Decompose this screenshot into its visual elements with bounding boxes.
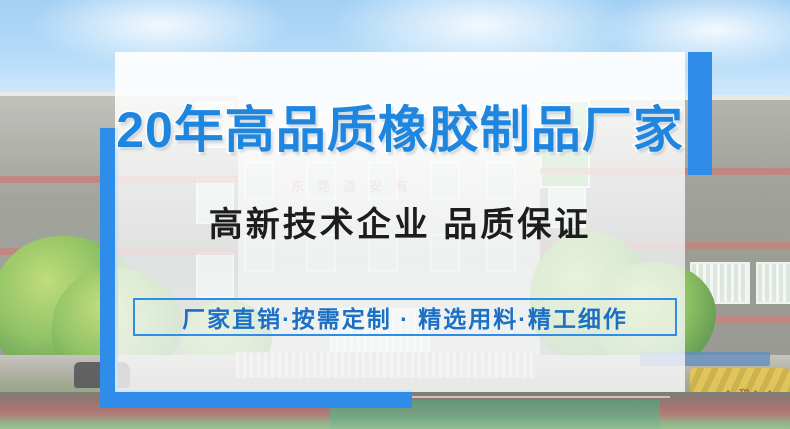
subheadline: 高新技术企业 品质保证	[115, 208, 685, 242]
tagline-text: 厂家直销·按需定制 · 精选用料·精工细作	[182, 300, 628, 334]
accent-bar-right	[688, 52, 712, 175]
headline: 20年高品质橡胶制品厂家	[115, 105, 685, 155]
tagline-box: 厂家直销·按需定制 · 精选用料·精工细作	[133, 298, 677, 336]
accent-bar-bottom	[100, 390, 412, 408]
promo-banner: 东莞道安有 A 和A A	[0, 0, 790, 429]
